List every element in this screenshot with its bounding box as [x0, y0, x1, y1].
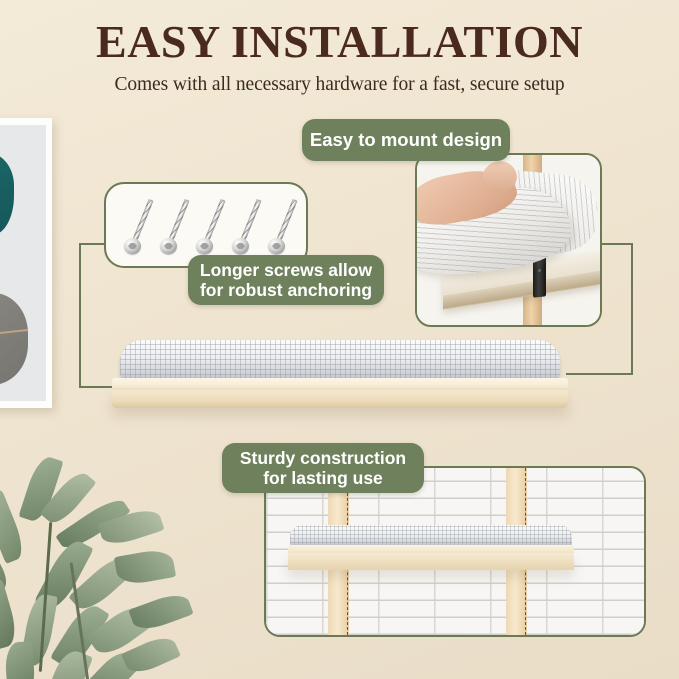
connector-right-vertical	[631, 243, 633, 375]
connector-left-vertical	[79, 243, 81, 388]
infographic-canvas: EASY INSTALLATION Comes with all necessa…	[0, 0, 679, 679]
badge-sturdy-construction[interactable]: Sturdy construction for lasting use	[222, 443, 424, 493]
connector-left-top	[79, 243, 107, 245]
badge-easy-to-mount[interactable]: Easy to mount design	[302, 119, 510, 161]
teal-leaf-shape	[0, 153, 14, 235]
screw-head-icon	[124, 238, 141, 254]
mounted-shelf-front	[288, 553, 574, 570]
screw-head-icon	[160, 238, 177, 254]
mounted-shelf-cushion	[290, 525, 572, 547]
framed-wall-art	[0, 118, 52, 408]
screw-head-icon	[232, 238, 249, 254]
screw-head-icon	[196, 238, 213, 254]
badge-longer-screws[interactable]: Longer screws allow for robust anchoring	[188, 255, 384, 305]
plant-leaf	[4, 641, 36, 679]
connector-right-top	[600, 243, 633, 245]
shelf-front-edge	[112, 390, 568, 408]
screw-head-icon	[268, 238, 285, 254]
page-subtitle: Comes with all necessary hardware for a …	[0, 74, 679, 96]
art-mat	[0, 125, 46, 401]
hand-mounting-photo	[415, 153, 602, 327]
connector-right-horizontal	[566, 373, 633, 375]
decorative-green-plant	[0, 452, 232, 679]
floating-shelf-with-cushion	[112, 340, 568, 420]
page-title: EASY INSTALLATION	[0, 18, 679, 66]
shelf-cushion	[120, 340, 560, 380]
grey-leaf-shape	[0, 293, 28, 385]
